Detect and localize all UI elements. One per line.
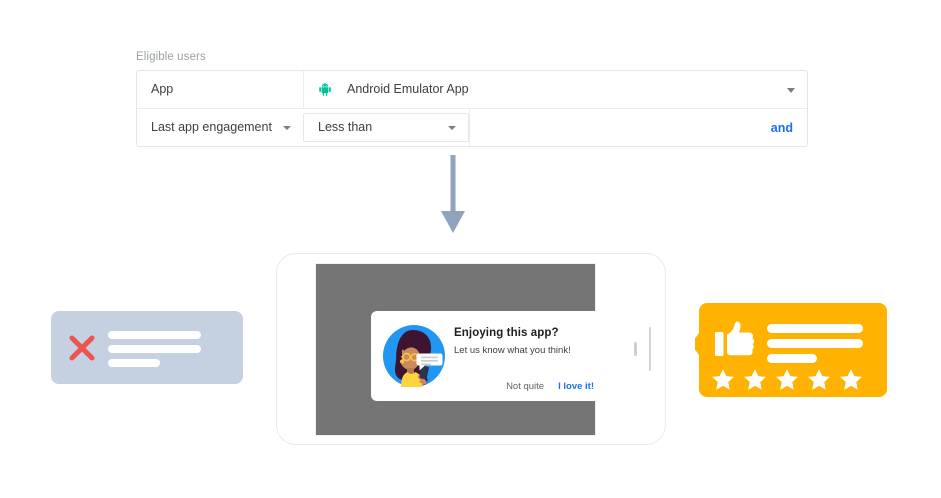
app-value-label: Android Emulator App [347,83,469,96]
dialog-actions: Not quite I love it! [506,381,594,392]
engagement-operator-label: Less than [318,121,372,134]
not-quite-button[interactable]: Not quite [506,381,544,392]
engagement-field-label: Last app engagement [151,121,272,134]
android-icon [318,83,332,96]
dialog-text-block: Enjoying this app? Let us know what you … [454,326,594,357]
person-with-phone-illustration [380,322,448,390]
eligible-users-form: Eligible users App Android Emulator App [136,50,808,147]
condition-card: App Android Emulator App Last app en [136,70,808,147]
speaker-grille [649,327,651,371]
rating-dialog: Enjoying this app? Let us know what you … [371,311,604,401]
app-value-selector[interactable]: Android Emulator App [303,71,807,108]
arrow-down-icon [437,155,469,235]
engagement-value-cell[interactable]: and [469,109,807,146]
positive-feedback-badge [695,303,891,397]
dialog-subtitle: Let us know what you think! [454,344,594,357]
dialog-title: Enjoying this app? [454,326,594,340]
engagement-field-selector[interactable]: Last app engagement [137,109,303,146]
i-love-it-button[interactable]: I love it! [558,381,594,392]
app-field-selector[interactable]: App [137,71,303,108]
app-field-label: App [151,83,173,96]
conjunction-and-link[interactable]: and [771,121,793,135]
engagement-operator-selector[interactable]: Less than [303,113,469,142]
phone-mockup: Enjoying this app? Let us know what you … [276,253,666,445]
home-button[interactable] [634,342,637,356]
negative-feedback-badge [51,311,243,384]
chevron-down-icon [448,126,456,130]
chevron-down-icon [283,126,291,130]
phone-screen: Enjoying this app? Let us know what you … [315,263,596,436]
condition-row-app: App Android Emulator App [137,71,807,108]
chevron-down-icon [787,88,795,93]
eligible-users-label: Eligible users [136,50,808,64]
condition-row-engagement: Last app engagement Less than and [137,108,807,146]
